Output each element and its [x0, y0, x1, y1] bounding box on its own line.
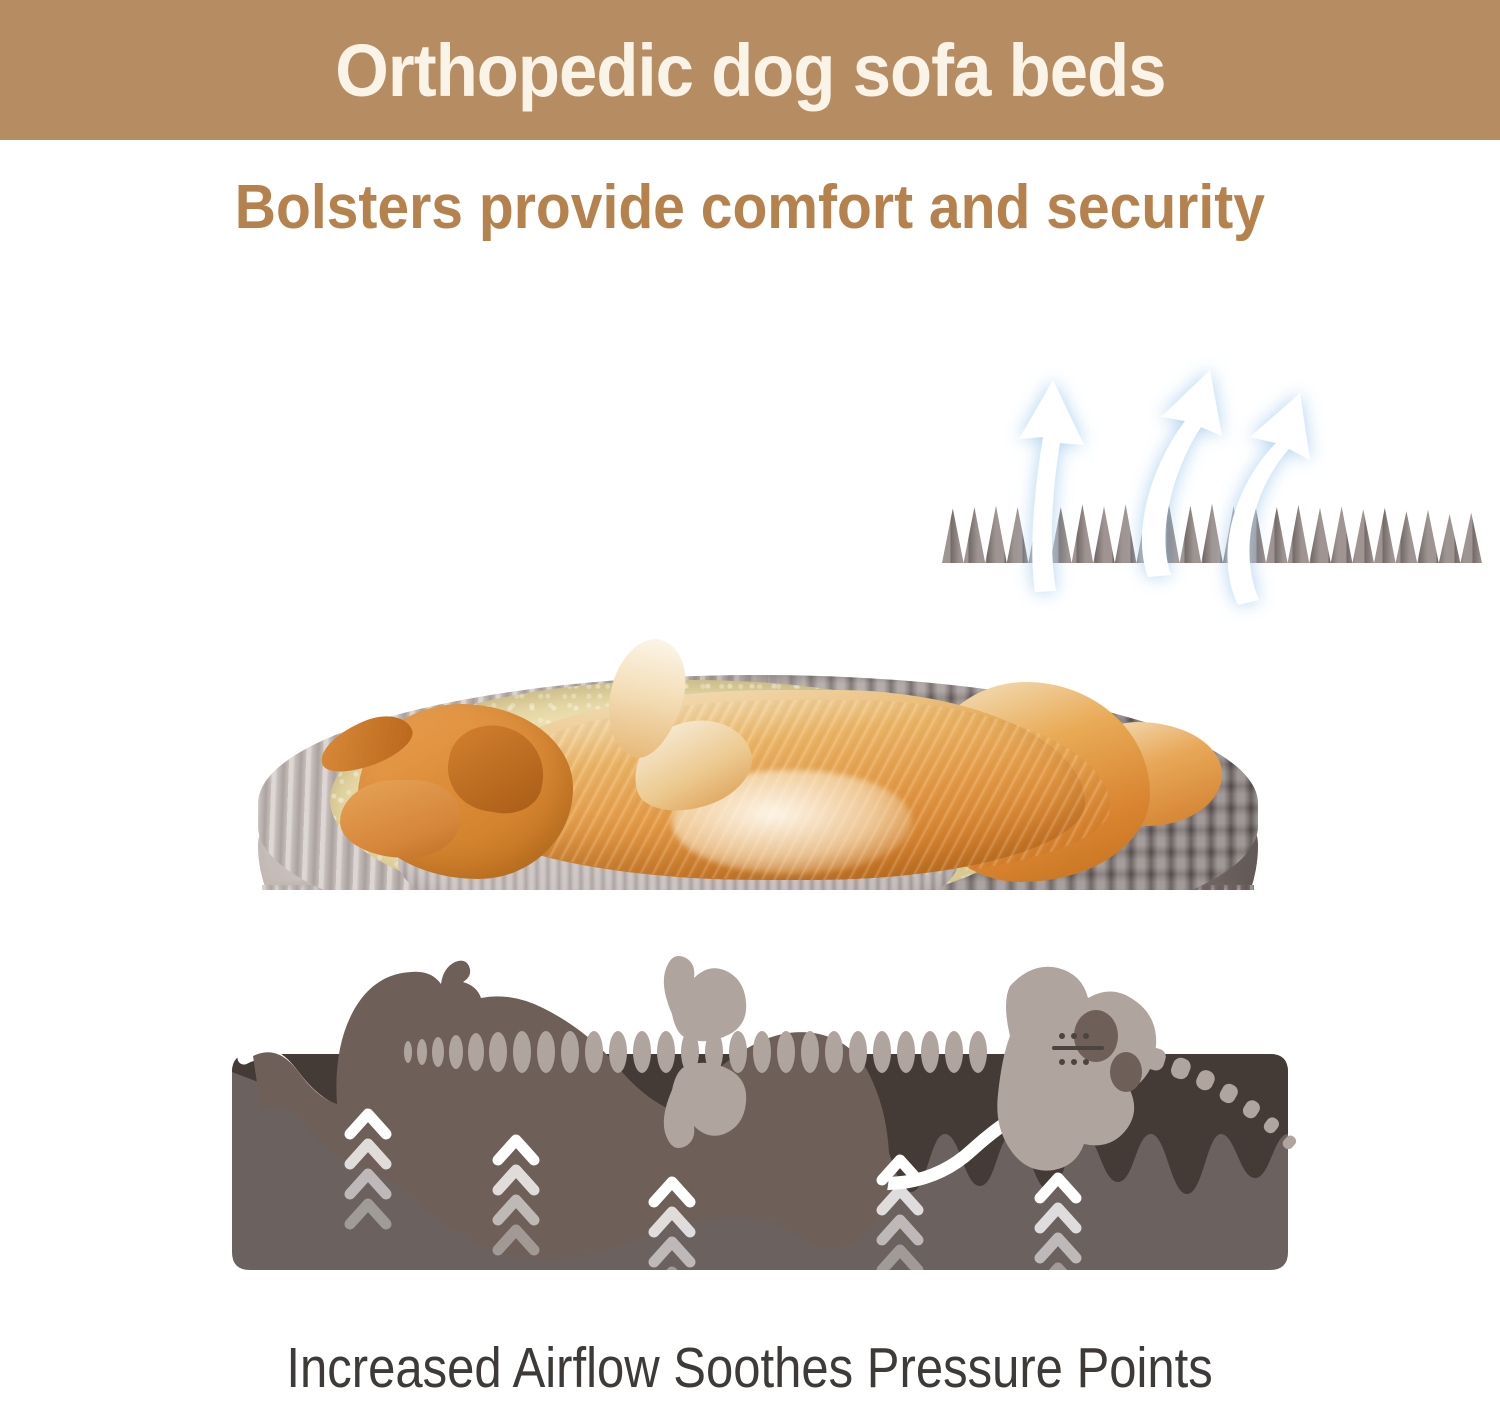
subtitle-text: Bolsters provide comfort and security: [235, 172, 1265, 243]
page-title: Orthopedic dog sofa beds: [335, 28, 1165, 113]
caption-row: Increased Airflow Soothes Pressure Point…: [0, 1322, 1500, 1414]
hero-product-photo: [0, 275, 1500, 890]
subtitle-row: Bolsters provide comfort and security: [0, 152, 1500, 262]
airflow-arrows: [0, 275, 1500, 890]
airflow-arrow-2: [1142, 370, 1222, 577]
header-banner: Orthopedic dog sofa beds: [0, 0, 1500, 140]
caption-text: Increased Airflow Soothes Pressure Point…: [287, 1335, 1213, 1401]
airflow-arrow-3: [1228, 393, 1310, 605]
foam-cross-section-diagram: [0, 890, 1500, 1310]
airflow-arrow-1: [1019, 380, 1084, 592]
